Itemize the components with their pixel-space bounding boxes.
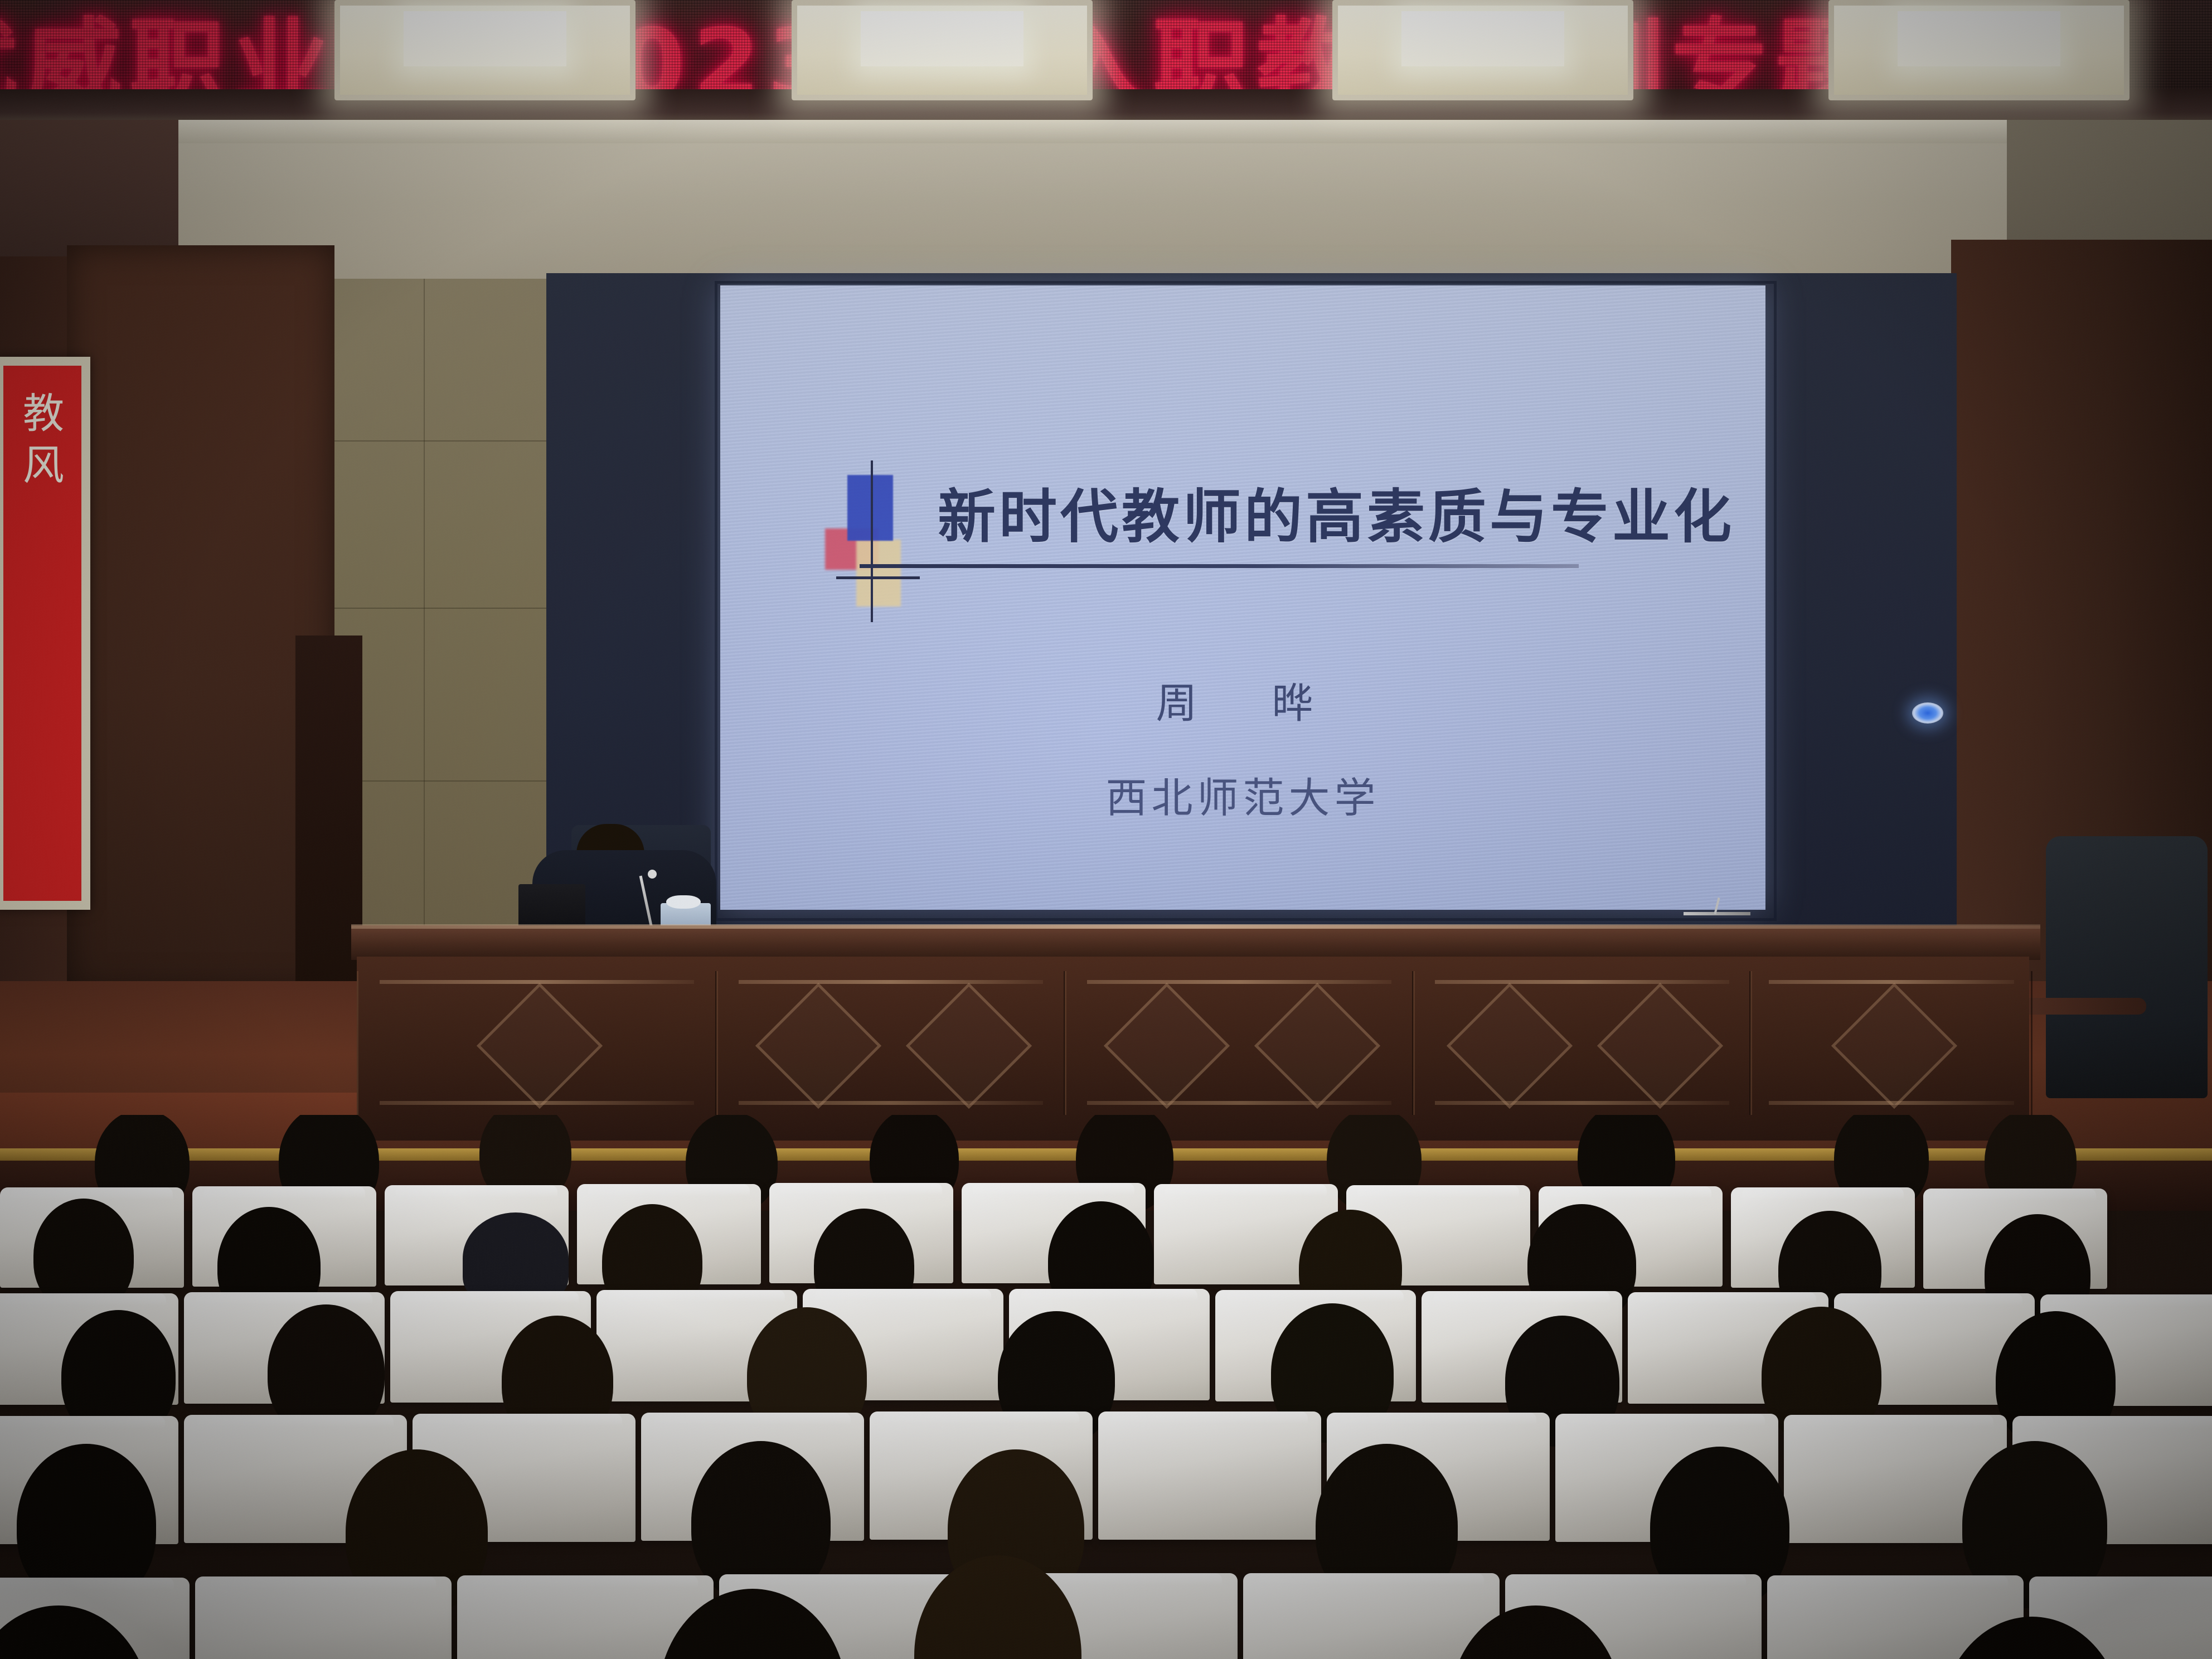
tissue-sheet (666, 895, 701, 909)
lamp-glow (404, 11, 566, 66)
lamp-glow (1401, 11, 1564, 66)
head-table-top (351, 925, 2040, 960)
lamp-glow (1898, 11, 2060, 66)
table-panel (357, 971, 717, 1115)
table-panel (1413, 971, 1751, 1115)
diamond-carving (1104, 983, 1230, 1109)
lamp-glow (861, 11, 1023, 66)
ceiling-cornice (0, 120, 2212, 143)
diamond-carving (1254, 983, 1380, 1109)
audience-chair (1098, 1411, 1321, 1540)
left-wood-pillar-inner (67, 245, 334, 992)
ceiling-light-4 (1828, 0, 2129, 100)
table-panel (1065, 971, 1414, 1115)
ceiling-light-3 (1332, 0, 1633, 100)
screen-frame (715, 281, 1777, 921)
diamond-carving (1597, 983, 1723, 1109)
desk-microphone (1684, 912, 1750, 915)
ceiling-light-2 (792, 0, 1093, 100)
wall-scroll-text: 教风 (23, 388, 62, 491)
wall-scroll-banner: 教风 (0, 357, 90, 910)
head-table-edge-highlight (351, 924, 2040, 929)
auditorium-photo: 武威职业学院2023年新入职教师培训专题 教风 新时代教师的高素质与专业化 (0, 0, 2212, 1659)
diamond-carving (1831, 983, 1957, 1109)
table-panel (1750, 971, 2032, 1115)
audience-seating (0, 1115, 2212, 1659)
diamond-carving (906, 983, 1032, 1109)
diamond-carving (477, 983, 603, 1109)
microphone-head-icon (648, 870, 657, 879)
blue-status-light-icon (1912, 702, 1943, 724)
head-table-front-panel (357, 957, 2029, 1141)
diamond-carving (1447, 983, 1573, 1109)
stage-side-chair (2046, 836, 2208, 1098)
ceiling-light-1 (334, 0, 636, 100)
audience-chair (1243, 1573, 1500, 1659)
diamond-carving (755, 983, 881, 1109)
audience-chair (195, 1576, 452, 1659)
wall-panel-line (424, 279, 425, 981)
table-panel (716, 971, 1065, 1115)
